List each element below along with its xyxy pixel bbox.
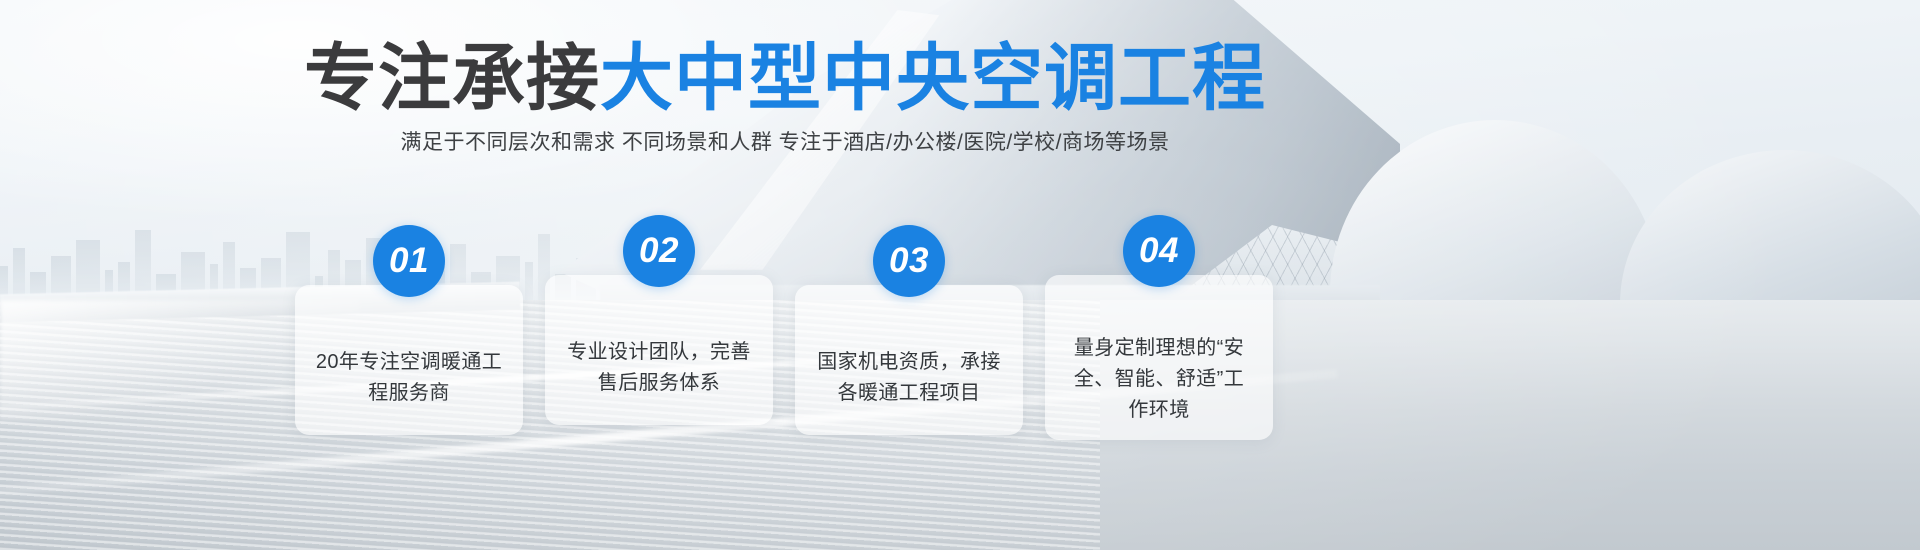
- feature-card-badge: 01: [373, 225, 445, 297]
- hero-banner: 专注承接大中型中央空调工程 满足于不同层次和需求 不同场景和人群 专注于酒店/办…: [0, 0, 1920, 550]
- feature-card-text: 国家机电资质，承接 各暖通工程项目: [809, 347, 1009, 409]
- feature-card-line: 各暖通工程项目: [809, 378, 1009, 409]
- page-title: 专注承接大中型中央空调工程: [0, 42, 1570, 115]
- feature-card-text: 20年专注空调暖通工 程服务商: [309, 347, 509, 409]
- feature-card-list: 20年专注空调暖通工 程服务商 01 专业设计团队，完善 售后服务体系 02 国…: [295, 225, 1295, 450]
- feature-card-badge: 02: [623, 215, 695, 287]
- feature-card-line: 国家机电资质，承接: [809, 347, 1009, 378]
- feature-card-line: 作环境: [1059, 395, 1259, 426]
- headline-blue-text: 大中型中央空调工程: [600, 38, 1266, 119]
- feature-card[interactable]: 专业设计团队，完善 售后服务体系: [545, 275, 773, 425]
- page-subtitle: 满足于不同层次和需求 不同场景和人群 专注于酒店/办公楼/医院/学校/商场等场景: [0, 128, 1570, 157]
- feature-card-line: 专业设计团队，完善: [559, 337, 759, 368]
- feature-card-text: 专业设计团队，完善 售后服务体系: [559, 337, 759, 399]
- feature-card-line: 量身定制理想的“安: [1059, 333, 1259, 364]
- feature-card[interactable]: 国家机电资质，承接 各暖通工程项目: [795, 285, 1023, 435]
- feature-card-text: 量身定制理想的“安 全、智能、舒适”工 作环境: [1059, 333, 1259, 426]
- feature-card-line: 全、智能、舒适”工: [1059, 364, 1259, 395]
- feature-card-line: 售后服务体系: [559, 368, 759, 399]
- feature-card-badge: 03: [873, 225, 945, 297]
- feature-card[interactable]: 20年专注空调暖通工 程服务商: [295, 285, 523, 435]
- headline-dark-text: 专注承接: [304, 38, 600, 119]
- feature-card[interactable]: 量身定制理想的“安 全、智能、舒适”工 作环境: [1045, 275, 1273, 440]
- feature-card-line: 程服务商: [309, 378, 509, 409]
- feature-card-badge: 04: [1123, 215, 1195, 287]
- feature-card-line: 20年专注空调暖通工: [309, 347, 509, 378]
